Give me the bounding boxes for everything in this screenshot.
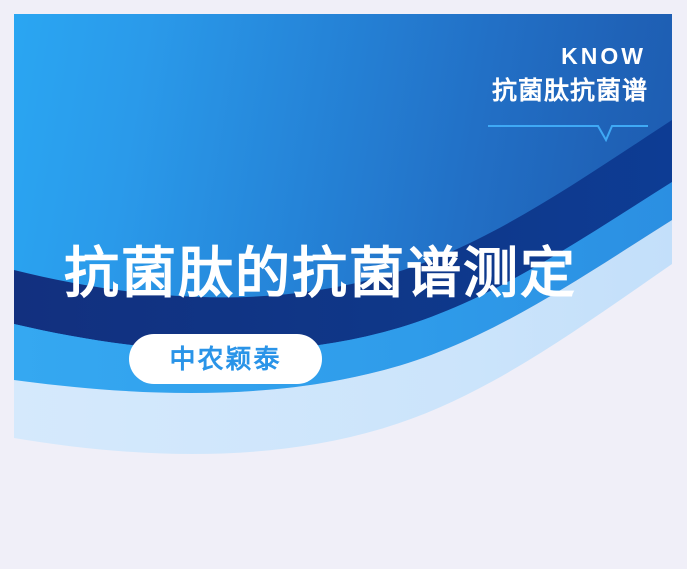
poster-root: KNOW 抗菌肽抗菌谱 抗菌肽的抗菌谱测定 中农颖泰: [0, 0, 687, 569]
eyebrow-block: KNOW 抗菌肽抗菌谱: [488, 44, 648, 142]
wave-background-cutout: [14, 264, 672, 548]
wave-navy: [14, 120, 672, 351]
eyebrow-zigzag-rule: [488, 122, 648, 142]
poster-card: KNOW 抗菌肽抗菌谱 抗菌肽的抗菌谱测定 中农颖泰: [14, 14, 672, 548]
brand-pill[interactable]: 中农颖泰: [129, 334, 322, 384]
brand-pill-label: 中农颖泰: [169, 346, 281, 372]
page-title: 抗菌肽的抗菌谱测定: [64, 242, 577, 305]
eyebrow-know-label: KNOW: [488, 44, 648, 69]
eyebrow-subtitle: 抗菌肽抗菌谱: [488, 77, 648, 106]
